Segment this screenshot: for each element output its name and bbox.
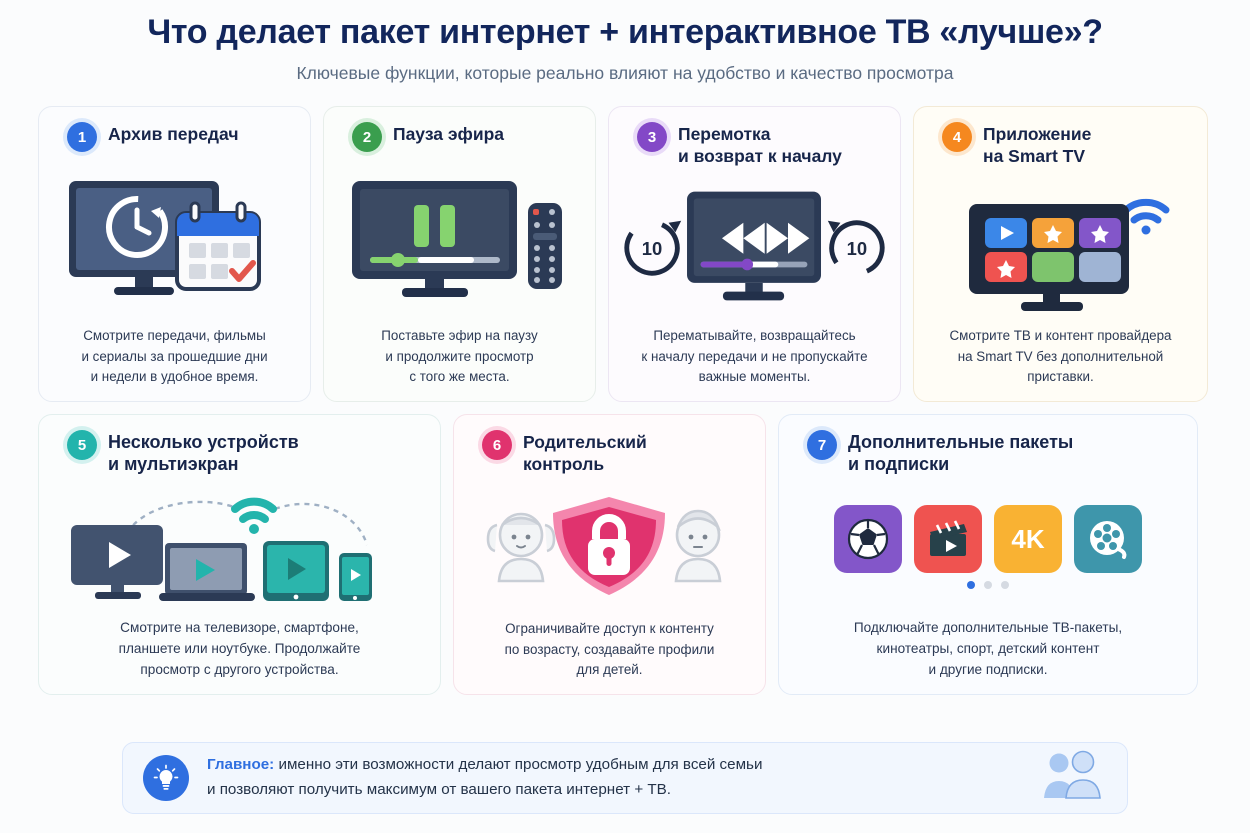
card-title-line: и мультиэкран: [108, 454, 299, 476]
caption-line: на Smart TV без дополнительной: [932, 347, 1189, 367]
card-title: Перемотка и возврат к началу: [678, 121, 842, 167]
card-title-line: Родительский: [523, 432, 647, 453]
caption-line: планшете или ноутбуке. Продолжайте: [57, 639, 422, 660]
card-number-badge: 1: [67, 122, 97, 152]
caption-line: Ограничивайте доступ к контенту: [472, 619, 747, 639]
card-header: 1 Архив передач: [51, 121, 298, 152]
4k-quality-tile[interactable]: 4K: [994, 505, 1062, 573]
card-title: Архив передач: [108, 121, 239, 145]
soccer-ball-tile[interactable]: [834, 505, 902, 573]
card-title-line: контроль: [523, 454, 647, 475]
caption-line: с того же места.: [342, 367, 577, 387]
cards-row-1: 1 Архив передач: [0, 106, 1250, 402]
card-title-line: Перемотка: [678, 124, 842, 145]
caption-line: Смотрите на телевизоре, смартфоне,: [57, 618, 422, 639]
caption-line: Смотрите ТВ и контент провайдера: [932, 326, 1189, 346]
caption-line: и недели в удобное время.: [57, 367, 292, 387]
shield-lock-kids-icon: [466, 475, 753, 619]
family-people-icon: [1039, 750, 1105, 807]
film-reel-icon: [1087, 518, 1129, 560]
laptop-icon: [159, 543, 255, 601]
lightbulb-icon: [143, 755, 189, 801]
caption-line: Смотрите передачи, фильмы: [57, 326, 292, 346]
shield-lock-icon: [553, 497, 665, 595]
card-title: Пауза эфира: [393, 121, 504, 145]
skip-forward-10-icon: 10: [822, 213, 888, 282]
card-header: 3 Перемотка и возврат к началу: [621, 121, 888, 167]
card-number-badge: 7: [807, 430, 837, 460]
carousel-dots[interactable]: [967, 581, 1009, 589]
summary-banner: Главное: именно эти возможности делают п…: [122, 742, 1128, 814]
card-caption: Перематывайте, возвращайтесь к началу пе…: [621, 326, 888, 391]
smartphone-icon: [339, 553, 372, 601]
card-caption: Ограничивайте доступ к контенту по возра…: [466, 619, 753, 684]
card-header: 4 Приложение на Smart TV: [926, 121, 1195, 167]
card-number-badge: 4: [942, 122, 972, 152]
card-caption: Смотрите передачи, фильмы и сериалы за п…: [51, 326, 298, 391]
cards-row-2: 5 Несколько устройств и мультиэкран: [0, 414, 1250, 695]
caption-line: Поставьте эфир на паузу: [342, 326, 577, 346]
summary-text: Главное: именно эти возможности делают п…: [207, 753, 1021, 802]
clapperboard-icon: [926, 518, 970, 560]
tv-clock-calendar-icon: [51, 152, 298, 326]
multi-device-icon: [51, 476, 428, 618]
subscription-tiles: 4K: [834, 505, 1142, 573]
wifi-icon: [235, 502, 273, 534]
infographic-page: Что делает пакет интернет + интерактивно…: [0, 0, 1250, 833]
tv-rewind-forward-icon: 10 10: [621, 167, 888, 326]
card-archive[interactable]: 1 Архив передач: [38, 106, 311, 402]
card-pause[interactable]: 2 Пауза эфира: [323, 106, 596, 402]
desktop-monitor-icon: [71, 525, 163, 599]
caption-line: Перематывайте, возвращайтесь: [627, 326, 882, 346]
card-multi-device[interactable]: 5 Несколько устройств и мультиэкран: [38, 414, 441, 695]
caption-line: и сериалы за прошедшие дни: [57, 347, 292, 367]
card-title-line: и возврат к началу: [678, 146, 842, 167]
card-parental-control[interactable]: 6 Родительский контроль: [453, 414, 766, 695]
card-header: 6 Родительский контроль: [466, 429, 753, 475]
card-caption: Смотрите ТВ и контент провайдера на Smar…: [926, 326, 1195, 391]
caption-line: по возрасту, создавайте профили: [472, 640, 747, 660]
card-title: Приложение на Smart TV: [983, 121, 1091, 167]
skip-back-10-icon: 10: [621, 213, 687, 282]
caption-line: приставки.: [932, 367, 1189, 387]
caption-line: и другие подписки.: [797, 660, 1179, 681]
card-header: 5 Несколько устройств и мультиэкран: [51, 429, 428, 476]
soccer-ball-icon: [847, 518, 889, 560]
summary-line-1-rest: именно эти возможности делают просмотр у…: [274, 756, 762, 773]
tv-pause-remote-icon: [336, 152, 583, 326]
wifi-icon: [1126, 202, 1166, 234]
caption-line: кинотеатры, спорт, детский контент: [797, 639, 1179, 660]
carousel-dot-3[interactable]: [1001, 581, 1009, 589]
card-number-badge: 3: [637, 122, 667, 152]
card-number-badge: 6: [482, 430, 512, 460]
caption-line: важные моменты.: [627, 367, 882, 387]
page-title: Что делает пакет интернет + интерактивно…: [0, 14, 1250, 51]
card-header: 7 Дополнительные пакеты и подписки: [791, 429, 1185, 476]
tablet-icon: [263, 541, 329, 601]
card-title-line: на Smart TV: [983, 146, 1091, 167]
page-subtitle: Ключевые функции, которые реально влияют…: [0, 63, 1250, 84]
subscription-tiles-icon: 4K: [791, 476, 1185, 618]
card-rewind[interactable]: 3 Перемотка и возврат к началу 10: [608, 106, 901, 402]
film-reel-tile[interactable]: [1074, 505, 1142, 573]
page-header: Что делает пакет интернет + интерактивно…: [0, 0, 1250, 84]
card-number-badge: 5: [67, 430, 97, 460]
summary-lead: Главное:: [207, 756, 274, 773]
card-title: Родительский контроль: [523, 429, 647, 475]
card-title-line: и подписки: [848, 454, 1073, 476]
caption-line: для детей.: [472, 660, 747, 680]
caption-line: и продолжите просмотр: [342, 347, 577, 367]
card-title: Несколько устройств и мультиэкран: [108, 429, 299, 476]
svg-text:10: 10: [847, 237, 868, 258]
caption-line: просмотр с другого устройства.: [57, 660, 422, 681]
carousel-dot-2[interactable]: [984, 581, 992, 589]
card-number-badge: 2: [352, 122, 382, 152]
card-caption: Поставьте эфир на паузу и продолжите про…: [336, 326, 583, 391]
card-title-line: Приложение: [983, 124, 1091, 145]
caption-line: к началу передачи и не пропускайте: [627, 347, 882, 367]
summary-line-1: Главное: именно эти возможности делают п…: [207, 753, 1021, 778]
card-caption: Подключайте дополнительные ТВ-пакеты, ки…: [791, 618, 1185, 684]
card-extra-packages[interactable]: 7 Дополнительные пакеты и подписки: [778, 414, 1198, 695]
card-header: 2 Пауза эфира: [336, 121, 583, 152]
clapperboard-tile[interactable]: [914, 505, 982, 573]
summary-line-2: и позволяют получить максимум от вашего …: [207, 778, 1021, 803]
caption-line: Подключайте дополнительные ТВ-пакеты,: [797, 618, 1179, 639]
carousel-dot-1[interactable]: [967, 581, 975, 589]
card-caption: Смотрите на телевизоре, смартфоне, планш…: [51, 618, 428, 684]
svg-text:10: 10: [642, 237, 663, 258]
card-title-line: Дополнительные пакеты: [848, 432, 1073, 454]
card-smart-tv-app[interactable]: 4 Приложение на Smart TV: [913, 106, 1208, 402]
tv-apps-wifi-icon: [926, 167, 1195, 326]
card-title-line: Несколько устройств: [108, 432, 299, 454]
card-title: Дополнительные пакеты и подписки: [848, 429, 1073, 476]
